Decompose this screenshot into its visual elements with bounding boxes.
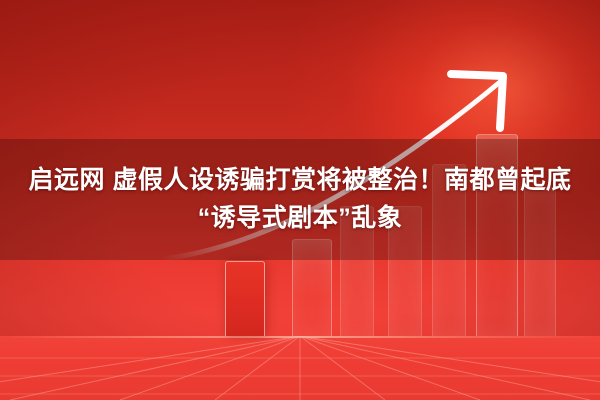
headline-line-2: “诱导式剧本”乱象 bbox=[198, 202, 403, 236]
news-banner: 启远网 虚假人设诱骗打赏将被整治！南都曾起底 “诱导式剧本”乱象 bbox=[0, 0, 600, 400]
headline: 启远网 虚假人设诱骗打赏将被整治！南都曾起底 “诱导式剧本”乱象 bbox=[0, 139, 600, 260]
headline-line-1: 启远网 虚假人设诱骗打赏将被整治！南都曾起底 bbox=[29, 164, 572, 198]
